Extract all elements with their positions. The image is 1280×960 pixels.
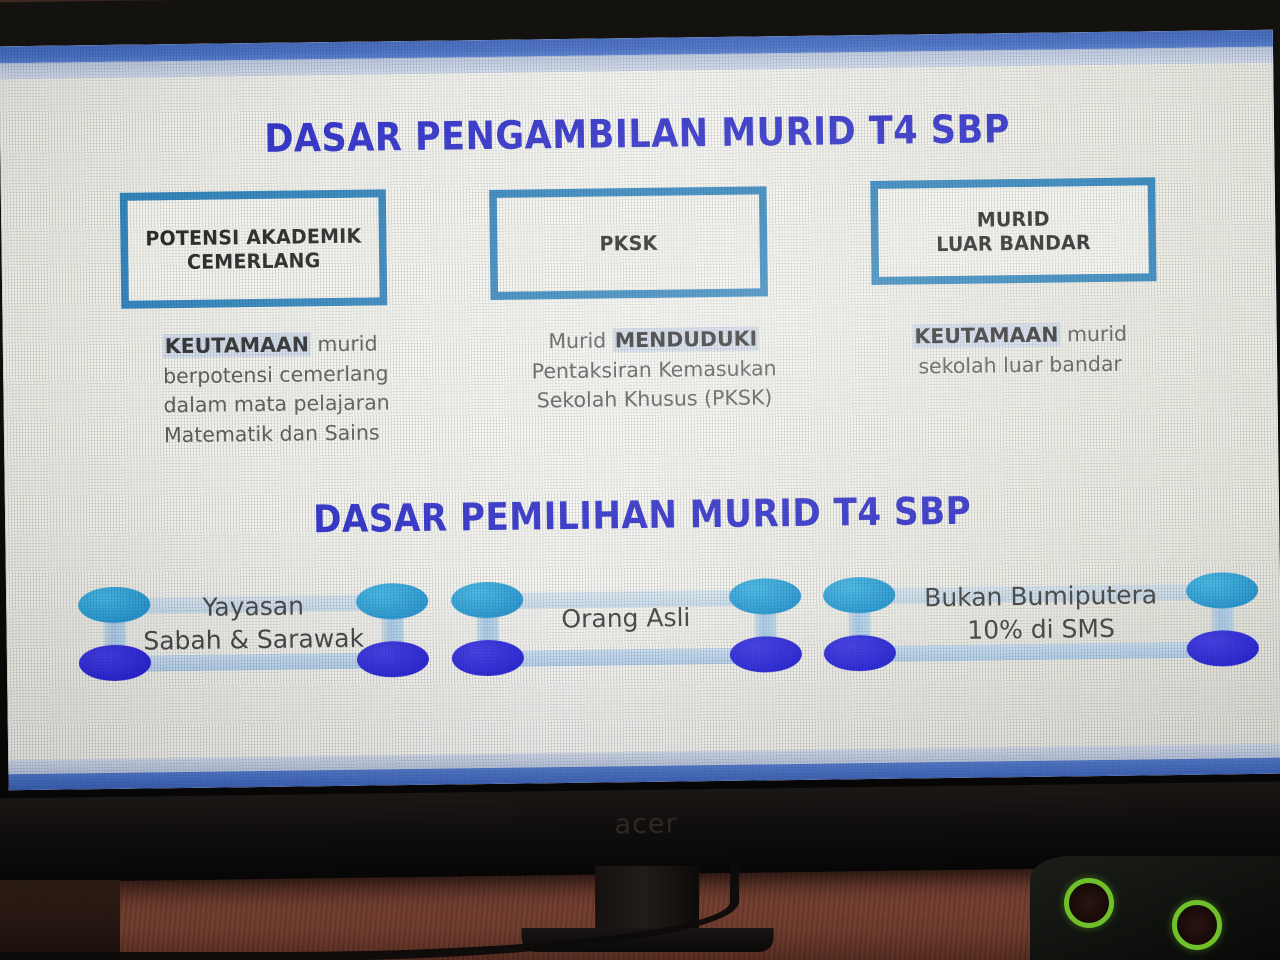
criteria-box-label: POTENSI AKADEMIKCEMERLANG	[145, 223, 362, 275]
caption-pksk: Murid MENDUDUKI Pentaksiran Kemasukan Se…	[504, 324, 806, 447]
caption-highlight: KEUTAMAAN	[163, 332, 311, 358]
caption-lead: Murid	[548, 328, 613, 353]
photo-scene: DASAR PENGAMBILAN MURID T4 SBP POTENSI A…	[0, 0, 1280, 960]
selection-frame-label: Orang Asli	[451, 599, 801, 637]
criteria-box-murid-luar-bandar[interactable]: MURIDLUAR BANDAR	[870, 177, 1156, 285]
monitor-screen[interactable]: DASAR PENGAMBILAN MURID T4 SBP POTENSI A…	[0, 30, 1280, 791]
selection-frame-label: YayasanSabah & Sarawak	[78, 588, 429, 659]
caption-highlight: KEUTAMAAN	[912, 323, 1060, 349]
selection-frame-label: Bukan Bumiputera10% di SMS	[823, 577, 1259, 649]
criteria-box-row: POTENSI AKADEMIKCEMERLANG PKSK MURIDLUAR…	[113, 179, 1164, 311]
ellipse-bottom-left-icon	[451, 640, 523, 677]
selection-frame-yayasan[interactable]: YayasanSabah & Sarawak	[77, 541, 429, 706]
page-title-pengambilan: DASAR PENGAMBILAN MURID T4 SBP	[64, 105, 1211, 165]
caption-murid-luar-bandar: KEUTAMAAN murid sekolah luar bandar	[875, 319, 1167, 442]
selection-frame-bukan-bumiputera[interactable]: Bukan Bumiputera10% di SMS	[822, 530, 1259, 696]
frame-bar-bottom	[495, 647, 757, 666]
selection-frame-orang-asli[interactable]: Orang Asli	[450, 536, 802, 701]
monitor: DASAR PENGAMBILAN MURID T4 SBP POTENSI A…	[0, 0, 1280, 883]
selection-frame-row: YayasanSabah & Sarawak Orang Asli	[77, 530, 1259, 705]
acer-logo: acer	[614, 809, 678, 841]
criteria-box-label: MURIDLUAR BANDAR	[936, 206, 1091, 257]
green-indicator-light-icon	[1064, 878, 1114, 928]
criteria-caption-row: KEUTAMAAN murid berpotensi cemerlang dal…	[115, 319, 1166, 452]
criteria-box-pksk[interactable]: PKSK	[489, 186, 768, 300]
criteria-box-label: PKSK	[599, 231, 657, 256]
caption-highlight: MENDUDUKI	[613, 326, 760, 352]
criteria-box-potensi-akademik[interactable]: POTENSI AKADEMIKCEMERLANG	[120, 189, 387, 308]
ellipse-bottom-right-icon	[729, 636, 801, 673]
caption-text: Pentaksiran Kemasukan Sekolah Khusus (PK…	[532, 356, 777, 413]
desk-device	[1030, 856, 1280, 960]
presentation-slide: DASAR PENGAMBILAN MURID T4 SBP POTENSI A…	[0, 30, 1280, 791]
green-indicator-light-icon	[1172, 900, 1222, 950]
caption-potensi-akademik: KEUTAMAAN murid berpotensi cemerlang dal…	[115, 329, 435, 452]
